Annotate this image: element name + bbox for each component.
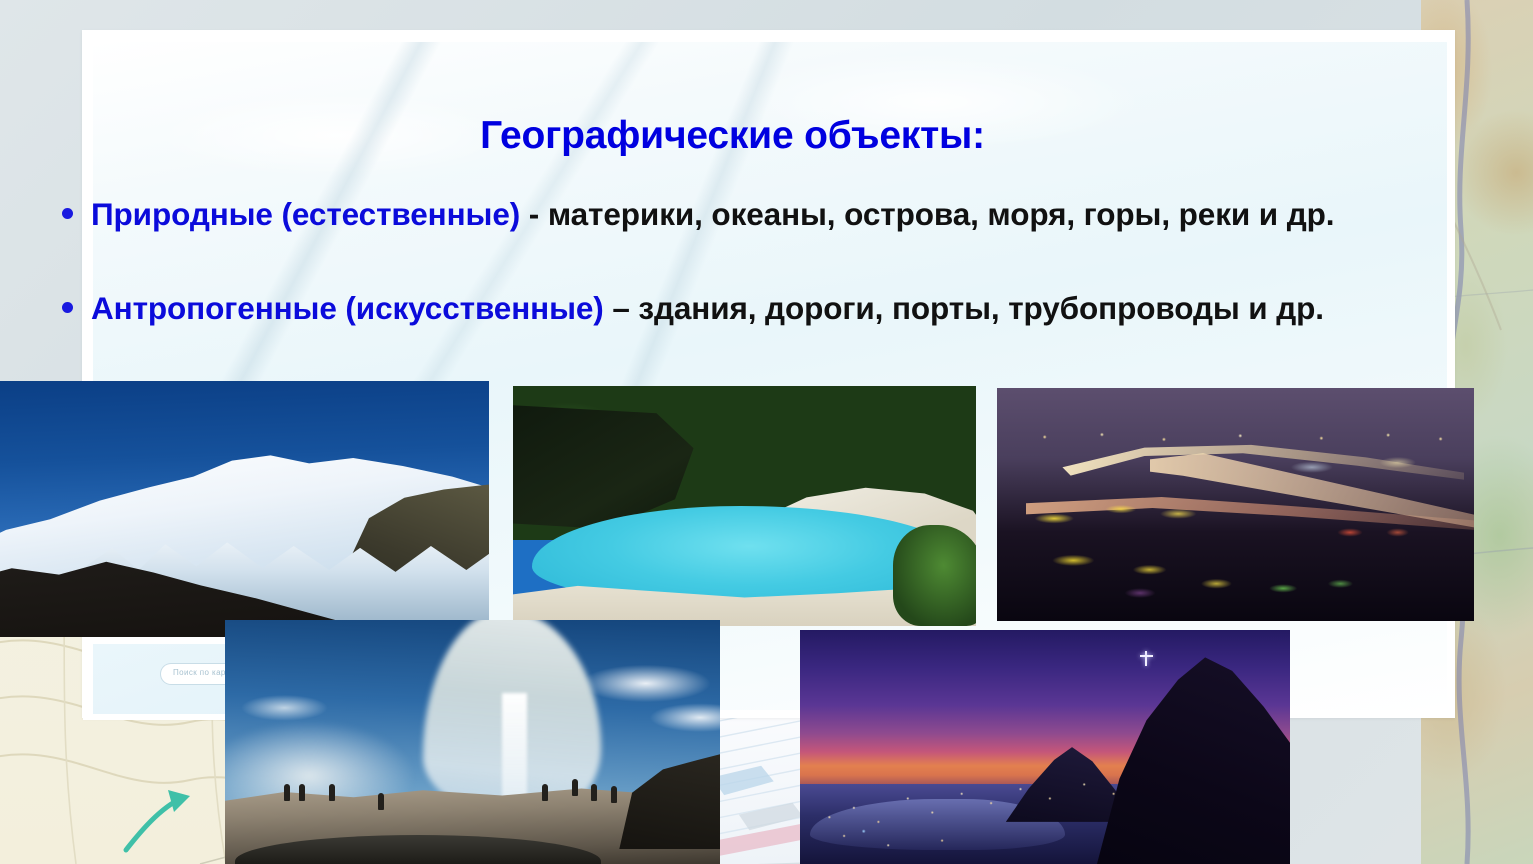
presentation-slide: Поиск по карте Географические объекты: П… [0, 0, 1533, 864]
bullet-dot-icon [62, 302, 73, 313]
photo-night-highway [997, 388, 1474, 621]
photo-mountain-glacier [0, 381, 489, 637]
geyser-person [284, 784, 290, 801]
list-item: Антропогенные (искусственные) – здания, … [62, 286, 1462, 332]
photo-rio-sunset [800, 630, 1290, 864]
bullet-2-highlight: Антропогенные (искусственные) [91, 290, 604, 326]
geyser-person [591, 784, 597, 801]
page-title: Географические объекты: [0, 114, 1465, 158]
geyser-person [572, 779, 578, 796]
geyser-person [299, 784, 305, 801]
bullet-dot-icon [62, 208, 73, 219]
geyser-person [542, 784, 548, 801]
bullet-1-text: Природные (естественные) - материки, оке… [91, 192, 1334, 238]
bullet-1-rest: - материки, океаны, острова, моря, горы,… [520, 196, 1334, 232]
photo-crater-lake [513, 386, 976, 626]
photo-geyser [225, 620, 720, 864]
list-item: Природные (естественные) - материки, оке… [62, 192, 1462, 238]
bullet-2-rest: – здания, дороги, порты, трубопроводы и … [604, 290, 1324, 326]
geyser-person [611, 786, 617, 803]
teal-arrow-icon [118, 784, 208, 854]
geyser-person [329, 784, 335, 801]
highway-city-lights [997, 388, 1474, 621]
lake-bush [893, 525, 976, 626]
bullet-1-highlight: Природные (естественные) [91, 196, 520, 232]
geyser-person [378, 793, 384, 810]
bullet-2-text: Антропогенные (искусственные) – здания, … [91, 286, 1324, 332]
rio-city-lights [800, 630, 1290, 864]
